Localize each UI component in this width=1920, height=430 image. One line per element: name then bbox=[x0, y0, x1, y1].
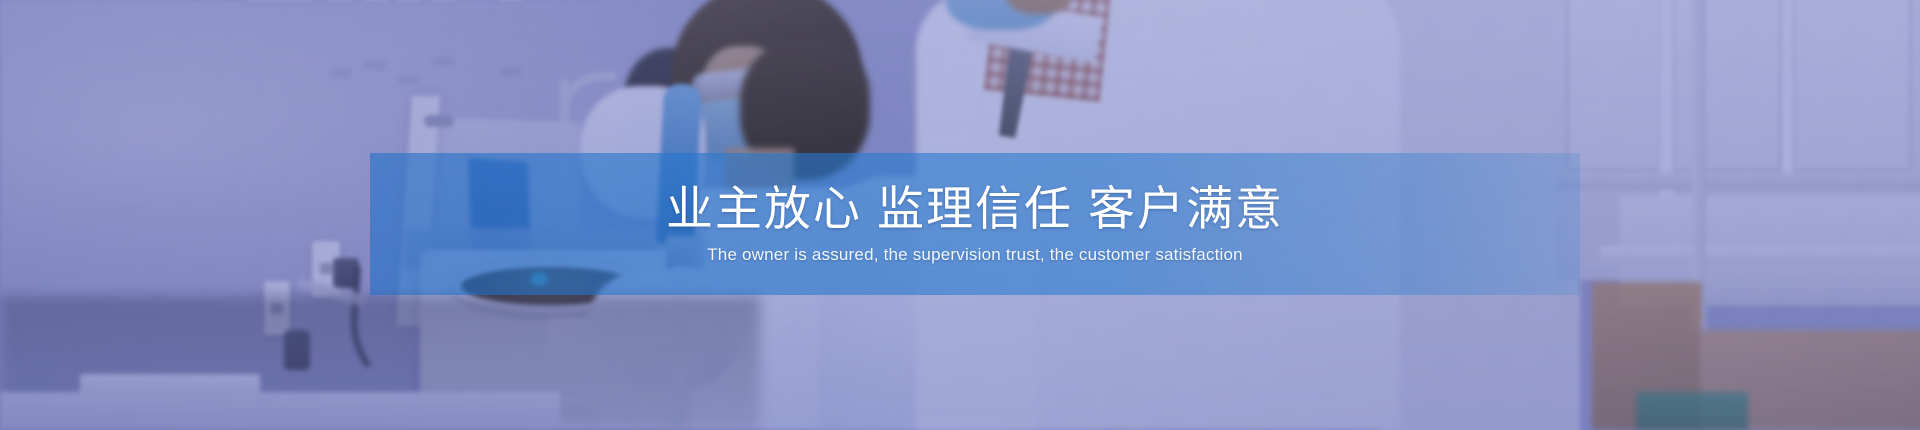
slogan-band: 业主放心 监理信任 客户满意 The owner is assured, the… bbox=[370, 153, 1580, 295]
banner-headline: 业主放心 监理信任 客户满意 bbox=[370, 183, 1580, 236]
banner-subheadline: The owner is assured, the supervision tr… bbox=[370, 245, 1580, 265]
hero-banner: 业主放心 监理信任 客户满意 The owner is assured, the… bbox=[0, 0, 1920, 430]
